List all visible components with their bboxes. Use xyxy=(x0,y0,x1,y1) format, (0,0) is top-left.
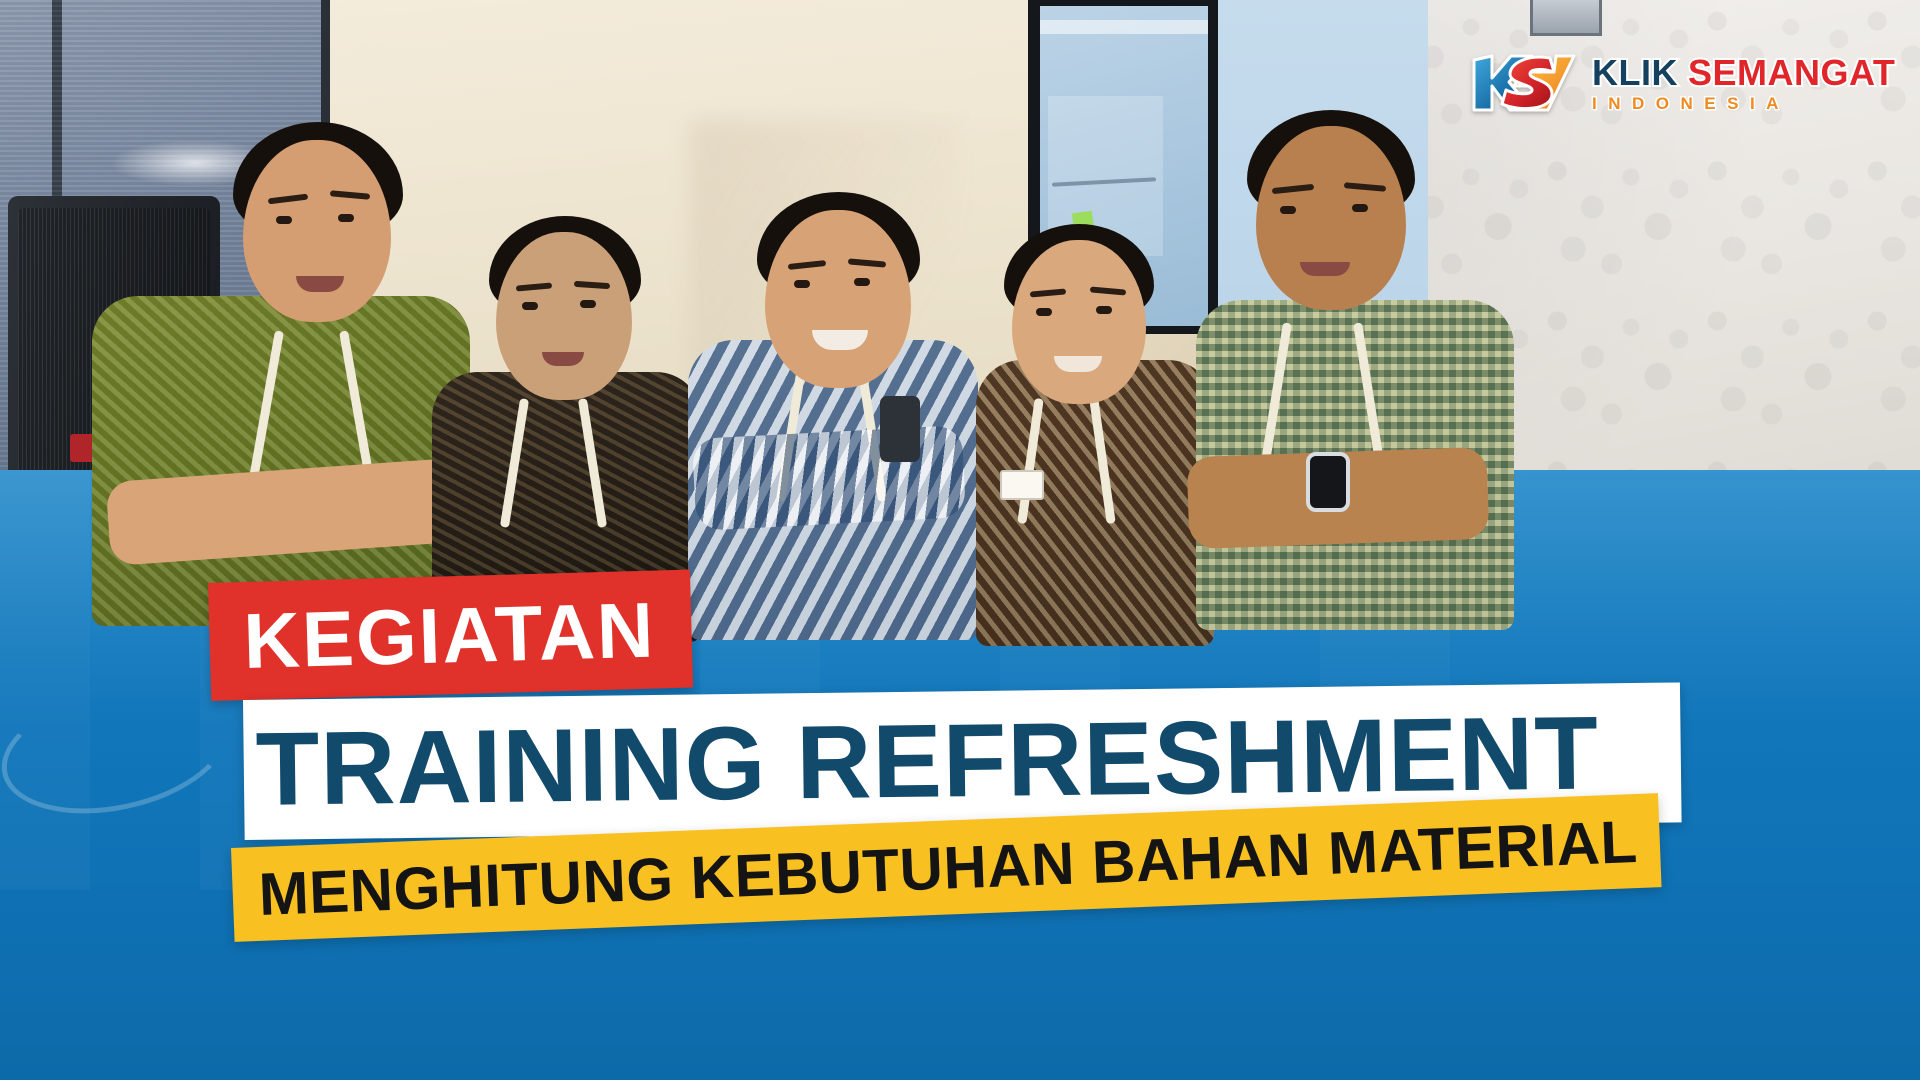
title-eyebrow-text: KEGIATAN xyxy=(242,584,656,686)
logo-text-semangat: SEMANGAT xyxy=(1688,55,1895,91)
ceiling-light-icon xyxy=(1530,0,1602,36)
smartphone-icon xyxy=(880,396,920,462)
brand-logo: KLIK SEMANGAT INDONESIA xyxy=(1470,52,1895,114)
logo-text-klik: KLIK xyxy=(1592,55,1678,91)
ks-monogram-icon xyxy=(1470,52,1578,114)
promo-thumbnail: KLIK SEMANGAT INDONESIA KEGIATAN TRAININ… xyxy=(0,0,1920,1080)
logo-text-indonesia: INDONESIA xyxy=(1592,95,1895,112)
id-badge xyxy=(1000,470,1044,500)
title-eyebrow-banner: KEGIATAN xyxy=(208,570,693,701)
wristwatch-icon xyxy=(1306,452,1350,512)
